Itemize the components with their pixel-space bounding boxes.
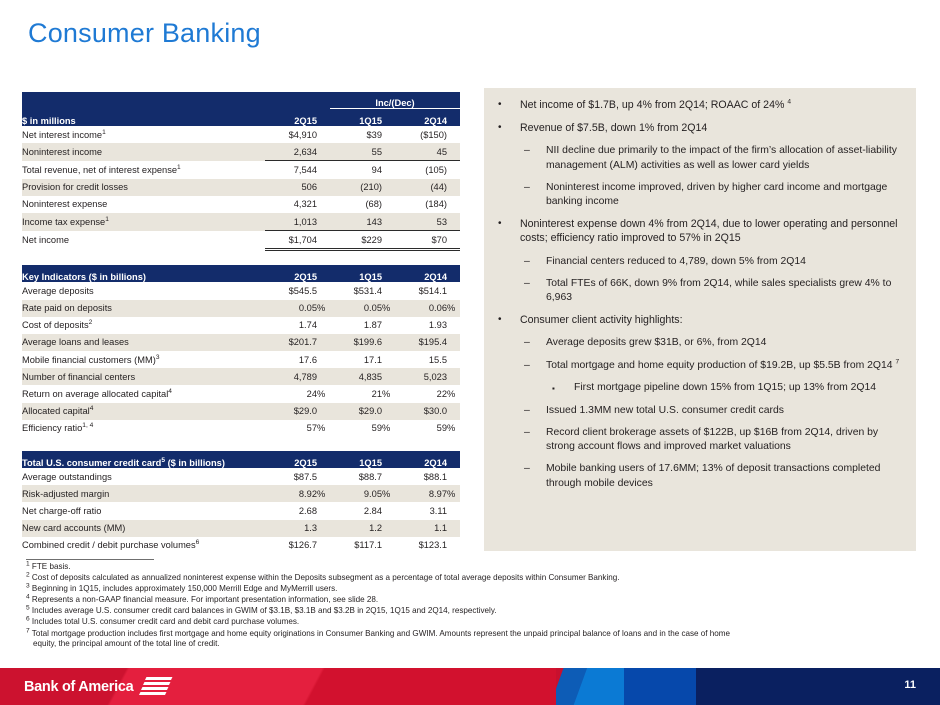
column-header-2Q15: 2Q15	[265, 109, 317, 127]
tables-column: Inc/(Dec)$ in millions2Q151Q152Q14Net in…	[22, 92, 460, 554]
table-row: Combined credit / debit purchase volumes…	[22, 537, 460, 554]
row-label: Number of financial centers	[22, 368, 265, 385]
cell-unit	[317, 143, 330, 161]
footer-band-blue-light	[556, 668, 624, 705]
cell-unit	[447, 317, 460, 334]
cell-value: 4,789	[265, 368, 317, 385]
cell-unit	[317, 502, 330, 519]
column-header-2Q14: 2Q14	[395, 109, 447, 127]
cell-value: 59	[330, 420, 382, 437]
cell-value: 5,023	[395, 368, 447, 385]
cell-unit	[317, 231, 330, 250]
cell-unit	[447, 179, 460, 196]
cell-unit: %	[317, 300, 330, 317]
cell-unit	[382, 282, 395, 299]
cell-value: 8.92	[265, 485, 317, 502]
cell-unit	[317, 403, 330, 420]
bullet-level-1: •Net income of $1.7B, up 4% from 2Q14; R…	[494, 98, 904, 112]
bullet-marker-icon: –	[524, 404, 546, 418]
table-gap	[22, 437, 460, 451]
bullet-marker-icon: •	[498, 121, 520, 135]
cell-unit	[382, 403, 395, 420]
cell-unit	[382, 231, 395, 250]
cell-value: 94	[330, 161, 382, 179]
cell-unit	[317, 161, 330, 179]
bullet-level-2: –Average deposits grew $31B, or 6%, from…	[494, 336, 904, 350]
cell-value: $29.0	[265, 403, 317, 420]
row-label: Combined credit / debit purchase volumes…	[22, 537, 265, 554]
cell-unit	[382, 368, 395, 385]
bullet-marker-icon: •	[498, 313, 520, 327]
cell-value: 22	[395, 385, 447, 402]
bullet-level-2: –Mobile banking users of 17.6MM; 13% of …	[494, 462, 904, 490]
logo-text: Bank of America	[24, 679, 133, 695]
cell-unit	[317, 317, 330, 334]
cell-unit	[382, 143, 395, 161]
cell-unit: %	[317, 485, 330, 502]
table-row: Efficiency ratio1, 457%59%59%	[22, 420, 460, 437]
cell-value: 2.68	[265, 502, 317, 519]
cell-value: $70	[395, 231, 447, 250]
footnote-number: 2	[26, 571, 30, 578]
cell-value: 1.3	[265, 520, 317, 537]
table-row: Noninterest expense4,321(68)(184)	[22, 196, 460, 213]
cell-value: 7,544	[265, 161, 317, 179]
cell-unit	[447, 334, 460, 351]
cell-unit	[382, 334, 395, 351]
row-label: Net income	[22, 231, 265, 250]
table-row: Net charge-off ratio2.682.843.11	[22, 502, 460, 519]
cell-unit	[382, 468, 395, 485]
cell-unit	[447, 196, 460, 213]
cell-value: $88.1	[395, 468, 447, 485]
table-header-row: $ in millions2Q151Q152Q14	[22, 109, 460, 127]
cell-value: 1.93	[395, 317, 447, 334]
bullet-level-1: •Consumer client activity highlights:	[494, 313, 904, 327]
bullet-text: NII decline due primarily to the impact …	[546, 144, 904, 172]
cell-unit	[382, 537, 395, 554]
row-label: Noninterest expense	[22, 196, 265, 213]
row-label: Income tax expense1	[22, 213, 265, 231]
footnote-divider	[26, 559, 154, 560]
cell-unit	[317, 213, 330, 231]
flag-icon	[141, 677, 171, 696]
table-header-label: $ in millions	[22, 109, 265, 127]
table-header-row: Key Indicators ($ in billions)2Q151Q152Q…	[22, 265, 460, 282]
footnote-number: 6	[26, 616, 30, 623]
page-title: Consumer Banking	[28, 18, 261, 49]
cell-value: $514.1	[395, 282, 447, 299]
cell-value: 53	[395, 213, 447, 231]
cell-unit	[447, 502, 460, 519]
bullet-level-2: –NII decline due primarily to the impact…	[494, 144, 904, 172]
row-label: Efficiency ratio1, 4	[22, 420, 265, 437]
bullet-marker-icon: –	[524, 144, 546, 172]
bullet-text: Revenue of $7.5B, down 1% from 2Q14	[520, 121, 904, 135]
slide-footer: Bank of America 11	[0, 668, 940, 705]
bank-of-america-logo: Bank of America	[24, 677, 171, 696]
span-header-label: Inc/(Dec)	[330, 92, 460, 109]
cell-unit	[382, 126, 395, 143]
bullet-level-2: –Issued 1.3MM new total U.S. consumer cr…	[494, 404, 904, 418]
table-row: Income tax expense11,01314353	[22, 213, 460, 231]
cell-unit	[447, 468, 460, 485]
cell-value: $126.7	[265, 537, 317, 554]
cell-value: $4,910	[265, 126, 317, 143]
cell-unit	[447, 351, 460, 368]
row-label: Total revenue, net of interest expense1	[22, 161, 265, 179]
table-header-row: Total U.S. consumer credit card5 ($ in b…	[22, 451, 460, 468]
cell-value: $1,704	[265, 231, 317, 250]
cell-unit: %	[382, 420, 395, 437]
row-label: Net interest income1	[22, 126, 265, 143]
bullet-text: Total FTEs of 66K, down 9% from 2Q14, wh…	[546, 277, 904, 305]
cell-value: 8.97	[395, 485, 447, 502]
cell-unit	[382, 520, 395, 537]
cell-value: 21	[330, 385, 382, 402]
cell-value: $87.5	[265, 468, 317, 485]
cell-unit	[317, 196, 330, 213]
cell-value: 0.05	[265, 300, 317, 317]
bullet-marker-icon: ▪	[552, 381, 574, 396]
cell-unit	[382, 502, 395, 519]
bullet-level-2: –Total FTEs of 66K, down 9% from 2Q14, w…	[494, 277, 904, 305]
cell-unit	[382, 161, 395, 179]
footnote: 6 Includes total U.S. consumer credit ca…	[26, 617, 926, 628]
cell-unit	[382, 351, 395, 368]
cell-value: (184)	[395, 196, 447, 213]
cell-value: $199.6	[330, 334, 382, 351]
row-label: Average loans and leases	[22, 334, 265, 351]
bullet-text: First mortgage pipeline down 15% from 1Q…	[574, 381, 904, 396]
row-label: Average deposits	[22, 282, 265, 299]
bullet-marker-icon: –	[524, 336, 546, 350]
cell-unit	[447, 126, 460, 143]
bullet-marker-icon: –	[524, 181, 546, 209]
bullet-level-3: ▪First mortgage pipeline down 15% from 1…	[494, 381, 904, 396]
cell-unit: %	[447, 420, 460, 437]
footnote-number: 3	[26, 583, 30, 590]
footnote: 2 Cost of deposits calculated as annuali…	[26, 573, 926, 584]
table-row: New card accounts (MM)1.31.21.1	[22, 520, 460, 537]
bullet-text: Noninterest income improved, driven by h…	[546, 181, 904, 209]
footer-band-blue-mid	[624, 668, 696, 705]
cell-value: 2.84	[330, 502, 382, 519]
table-row: Mobile financial customers (MM)317.617.1…	[22, 351, 460, 368]
bullet-marker-icon: –	[524, 462, 546, 490]
cell-value: 3.11	[395, 502, 447, 519]
bullet-list: •Net income of $1.7B, up 4% from 2Q14; R…	[484, 88, 916, 491]
cell-value: 0.05	[330, 300, 382, 317]
row-label: Provision for credit losses	[22, 179, 265, 196]
cell-value: 2,634	[265, 143, 317, 161]
footnotes-block: 1 FTE basis.2 Cost of deposits calculate…	[26, 559, 926, 650]
footnote-number: 1	[26, 560, 30, 567]
cell-unit: %	[382, 300, 395, 317]
cell-unit	[317, 368, 330, 385]
row-label: Cost of deposits2	[22, 317, 265, 334]
bullet-text: Record client brokerage assets of $122B,…	[546, 426, 904, 454]
column-header-2Q14: 2Q14	[395, 265, 447, 282]
cell-value: 4,321	[265, 196, 317, 213]
table-row: Average loans and leases$201.7$199.6$195…	[22, 334, 460, 351]
cell-unit	[447, 143, 460, 161]
bullet-level-2: –Total mortgage and home equity producti…	[494, 359, 904, 373]
cell-unit	[317, 351, 330, 368]
table-credit-card: Total U.S. consumer credit card5 ($ in b…	[22, 451, 460, 554]
cell-value: 1,013	[265, 213, 317, 231]
row-label: Return on average allocated capital4	[22, 385, 265, 402]
cell-value: 55	[330, 143, 382, 161]
cell-unit	[447, 403, 460, 420]
cell-value: $195.4	[395, 334, 447, 351]
cell-unit: %	[317, 420, 330, 437]
cell-value: $39	[330, 126, 382, 143]
cell-value: $545.5	[265, 282, 317, 299]
table-header-label: Total U.S. consumer credit card5 ($ in b…	[22, 451, 265, 468]
cell-unit: %	[447, 300, 460, 317]
cell-value: 15.5	[395, 351, 447, 368]
cell-value: 4,835	[330, 368, 382, 385]
column-header-2Q15: 2Q15	[265, 451, 317, 468]
cell-unit	[447, 161, 460, 179]
cell-unit	[317, 537, 330, 554]
cell-unit	[382, 213, 395, 231]
footnote: 3 Beginning in 1Q15, includes approximat…	[26, 584, 926, 595]
footnote: 5 Includes average U.S. consumer credit …	[26, 606, 926, 617]
cell-value: 1.87	[330, 317, 382, 334]
bullet-marker-icon: –	[524, 359, 546, 373]
cell-value: $88.7	[330, 468, 382, 485]
cell-unit	[447, 368, 460, 385]
table-header-label: Key Indicators ($ in billions)	[22, 265, 265, 282]
cell-value: $201.7	[265, 334, 317, 351]
cell-unit	[317, 282, 330, 299]
table-row: Net income$1,704$229$70	[22, 231, 460, 250]
bullet-text: Net income of $1.7B, up 4% from 2Q14; RO…	[520, 98, 904, 112]
cell-value: 59	[395, 420, 447, 437]
bullet-marker-icon: –	[524, 277, 546, 305]
footnote: 4 Represents a non-GAAP financial measur…	[26, 595, 926, 606]
bullet-level-2: –Financial centers reduced to 4,789, dow…	[494, 255, 904, 269]
cell-unit	[317, 334, 330, 351]
bullet-marker-icon: –	[524, 255, 546, 269]
cell-value: 1.74	[265, 317, 317, 334]
cell-unit	[447, 231, 460, 250]
table-row: Risk-adjusted margin8.92%9.05%8.97%	[22, 485, 460, 502]
table-row: Allocated capital4$29.0$29.0$30.0	[22, 403, 460, 420]
row-label: New card accounts (MM)	[22, 520, 265, 537]
bullet-text: Financial centers reduced to 4,789, down…	[546, 255, 904, 269]
table-row: Rate paid on deposits0.05%0.05%0.06%	[22, 300, 460, 317]
bullet-text: Issued 1.3MM new total U.S. consumer cre…	[546, 404, 904, 418]
row-label: Rate paid on deposits	[22, 300, 265, 317]
table-key-indicators: Key Indicators ($ in billions)2Q151Q152Q…	[22, 265, 460, 437]
cell-value: (105)	[395, 161, 447, 179]
table-row: Noninterest income2,6345545	[22, 143, 460, 161]
cell-unit: %	[317, 385, 330, 402]
bullet-level-2: –Noninterest income improved, driven by …	[494, 181, 904, 209]
cell-value: (68)	[330, 196, 382, 213]
bullet-level-1: •Noninterest expense down 4% from 2Q14, …	[494, 217, 904, 245]
table-gap	[22, 251, 460, 265]
table-row: Return on average allocated capital424%2…	[22, 385, 460, 402]
cell-unit	[317, 179, 330, 196]
cell-unit	[317, 126, 330, 143]
bullet-text: Total mortgage and home equity productio…	[546, 359, 904, 373]
table-income-statement: Inc/(Dec)$ in millions2Q151Q152Q14Net in…	[22, 92, 460, 251]
bullet-marker-icon: •	[498, 98, 520, 112]
bullet-text: Noninterest expense down 4% from 2Q14, d…	[520, 217, 904, 245]
cell-value: (44)	[395, 179, 447, 196]
cell-value: $229	[330, 231, 382, 250]
cell-value: 0.06	[395, 300, 447, 317]
bullet-text: Average deposits grew $31B, or 6%, from …	[546, 336, 904, 350]
cell-unit	[447, 213, 460, 231]
cell-value: $29.0	[330, 403, 382, 420]
bullet-text: Consumer client activity highlights:	[520, 313, 904, 327]
footnote: 1 FTE basis.	[26, 562, 926, 573]
cell-unit	[382, 317, 395, 334]
cell-value: 506	[265, 179, 317, 196]
table-row: Number of financial centers4,7894,8355,0…	[22, 368, 460, 385]
cell-value: 143	[330, 213, 382, 231]
cell-value: (210)	[330, 179, 382, 196]
bullet-text: Mobile banking users of 17.6MM; 13% of d…	[546, 462, 904, 490]
cell-value: $123.1	[395, 537, 447, 554]
column-header-1Q15: 1Q15	[330, 451, 382, 468]
cell-unit: %	[382, 385, 395, 402]
row-label: Net charge-off ratio	[22, 502, 265, 519]
cell-value: ($150)	[395, 126, 447, 143]
table-row: Total revenue, net of interest expense17…	[22, 161, 460, 179]
cell-value: $117.1	[330, 537, 382, 554]
row-label: Risk-adjusted margin	[22, 485, 265, 502]
highlights-panel: •Net income of $1.7B, up 4% from 2Q14; R…	[484, 88, 916, 551]
cell-unit: %	[447, 485, 460, 502]
cell-unit: %	[382, 485, 395, 502]
row-label: Allocated capital4	[22, 403, 265, 420]
cell-value: 45	[395, 143, 447, 161]
table-row: Net interest income1$4,910$39($150)	[22, 126, 460, 143]
cell-unit	[382, 196, 395, 213]
column-header-1Q15: 1Q15	[330, 265, 382, 282]
cell-unit	[317, 468, 330, 485]
cell-unit	[447, 537, 460, 554]
footnote: 7 Total mortgage production includes fir…	[26, 629, 926, 650]
cell-value: 1.1	[395, 520, 447, 537]
cell-value: 17.1	[330, 351, 382, 368]
cell-value: 57	[265, 420, 317, 437]
table-span-header-row: Inc/(Dec)	[22, 92, 460, 109]
table-row: Provision for credit losses506(210)(44)	[22, 179, 460, 196]
cell-value: 1.2	[330, 520, 382, 537]
cell-unit: %	[447, 385, 460, 402]
cell-unit	[447, 282, 460, 299]
bullet-level-2: –Record client brokerage assets of $122B…	[494, 426, 904, 454]
row-label: Noninterest income	[22, 143, 265, 161]
bullet-level-1: •Revenue of $7.5B, down 1% from 2Q14	[494, 121, 904, 135]
cell-unit	[317, 520, 330, 537]
bullet-marker-icon: –	[524, 426, 546, 454]
column-header-2Q15: 2Q15	[265, 265, 317, 282]
bullet-marker-icon: •	[498, 217, 520, 245]
row-label: Average outstandings	[22, 468, 265, 485]
footnote-number: 7	[26, 627, 30, 634]
cell-unit	[382, 179, 395, 196]
footnote-number: 5	[26, 605, 30, 612]
footnote-continuation: equity, the principal amount of the tota…	[26, 639, 926, 650]
column-header-1Q15: 1Q15	[330, 109, 382, 127]
cell-value: 17.6	[265, 351, 317, 368]
footnote-number: 4	[26, 594, 30, 601]
column-header-2Q14: 2Q14	[395, 451, 447, 468]
page-number: 11	[904, 679, 916, 691]
table-row: Cost of deposits21.741.871.93	[22, 317, 460, 334]
cell-value: $30.0	[395, 403, 447, 420]
table-row: Average deposits$545.5$531.4$514.1	[22, 282, 460, 299]
cell-value: 24	[265, 385, 317, 402]
cell-value: $531.4	[330, 282, 382, 299]
row-label: Mobile financial customers (MM)3	[22, 351, 265, 368]
cell-unit	[447, 520, 460, 537]
table-row: Average outstandings$87.5$88.7$88.1	[22, 468, 460, 485]
cell-value: 9.05	[330, 485, 382, 502]
